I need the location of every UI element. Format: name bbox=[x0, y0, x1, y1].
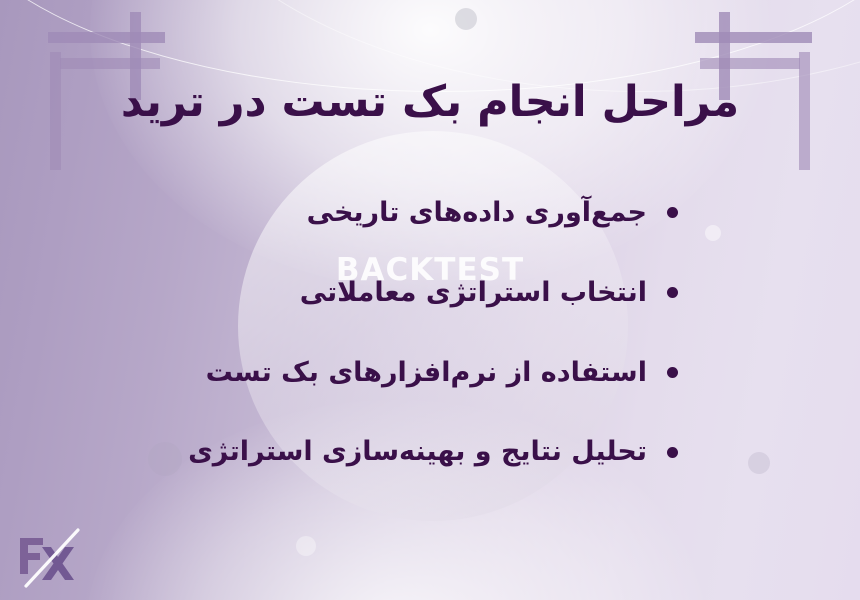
steps-list: جمع‌آوری داده‌های تاریخی انتخاب استراتژی… bbox=[158, 196, 678, 469]
list-item-label: تحلیل نتایج و بهینه‌سازی استراتژی bbox=[188, 435, 647, 469]
ornament-bar-horizontal-long bbox=[48, 32, 165, 43]
decorative-dot-lower-right bbox=[748, 452, 770, 474]
fx-logo-icon bbox=[14, 520, 94, 592]
decorative-dot-top bbox=[455, 8, 477, 30]
bullet-dot-icon bbox=[667, 287, 678, 298]
bullet-dot-icon bbox=[667, 207, 678, 218]
bullet-dot-icon bbox=[667, 367, 678, 378]
slide-canvas: مراحل انجام بک تست در ترید BACKTEST جمع‌… bbox=[0, 0, 860, 600]
list-item: جمع‌آوری داده‌های تاریخی bbox=[158, 196, 678, 230]
list-item-label: استفاده از نرم‌افزارهای بک تست bbox=[206, 356, 647, 390]
decorative-dot-upper-right bbox=[705, 225, 721, 241]
list-item: انتخاب استراتژی معاملاتی bbox=[158, 276, 678, 310]
ornament-bar-horizontal-short bbox=[60, 58, 160, 69]
list-item: استفاده از نرم‌افزارهای بک تست bbox=[158, 356, 678, 390]
ornament-bar-horizontal-long bbox=[695, 32, 812, 43]
ornament-bar-horizontal-short bbox=[700, 58, 800, 69]
bullet-dot-icon bbox=[667, 447, 678, 458]
list-item-label: انتخاب استراتژی معاملاتی bbox=[300, 276, 647, 310]
list-item-label: جمع‌آوری داده‌های تاریخی bbox=[307, 196, 647, 230]
page-title: مراحل انجام بک تست در ترید bbox=[0, 77, 860, 128]
decorative-dot-bottom-center bbox=[296, 536, 316, 556]
fx-logo bbox=[14, 520, 94, 592]
list-item: تحلیل نتایج و بهینه‌سازی استراتژی bbox=[158, 435, 678, 469]
